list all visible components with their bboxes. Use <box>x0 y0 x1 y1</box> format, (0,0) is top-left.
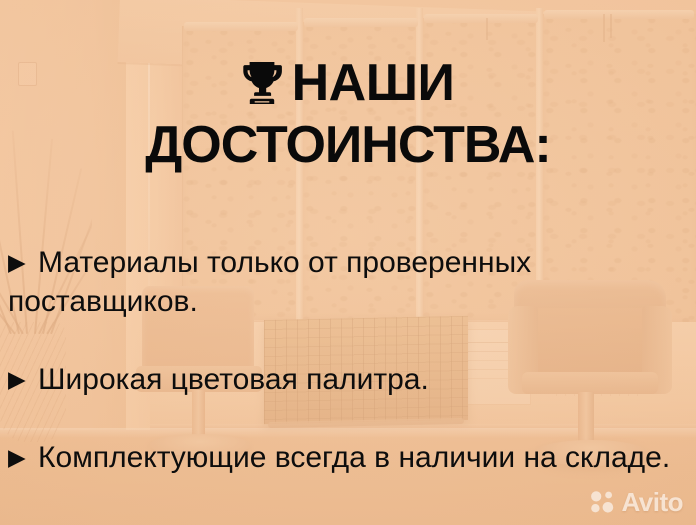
list-item-text: Материалы только от проверенных поставщи… <box>8 246 531 318</box>
avito-logo-icon <box>590 490 616 514</box>
advantages-list: ▶ Материалы только от проверенных постав… <box>0 243 696 477</box>
page-title: НАШИ ДОСТОИНСТВА: <box>0 52 696 176</box>
avito-wordmark: Avito <box>621 489 683 515</box>
headline-line-1: НАШИ <box>0 52 696 114</box>
text-overlay: НАШИ ДОСТОИНСТВА: ▶ Материалы только от … <box>0 0 696 525</box>
bullet-triangle-icon: ▶ <box>8 249 26 275</box>
list-item: ▶ Комплектующие всегда в наличии на скла… <box>8 438 688 477</box>
avito-watermark: Avito <box>590 489 683 515</box>
advertisement-card: НАШИ ДОСТОИНСТВА: ▶ Материалы только от … <box>0 0 696 525</box>
list-item: ▶ Широкая цветовая палитра. <box>8 360 688 399</box>
bullet-triangle-icon: ▶ <box>8 444 26 470</box>
bullet-triangle-icon: ▶ <box>8 366 26 392</box>
headline-line-2: ДОСТОИНСТВА: <box>0 114 696 176</box>
headline-text-1: НАШИ <box>292 54 455 112</box>
list-item-text: Комплектующие всегда в наличии на складе… <box>38 441 670 474</box>
list-item: ▶ Материалы только от проверенных постав… <box>8 243 688 321</box>
list-item-text: Широкая цветовая палитра. <box>38 363 429 396</box>
trophy-icon <box>242 60 282 106</box>
